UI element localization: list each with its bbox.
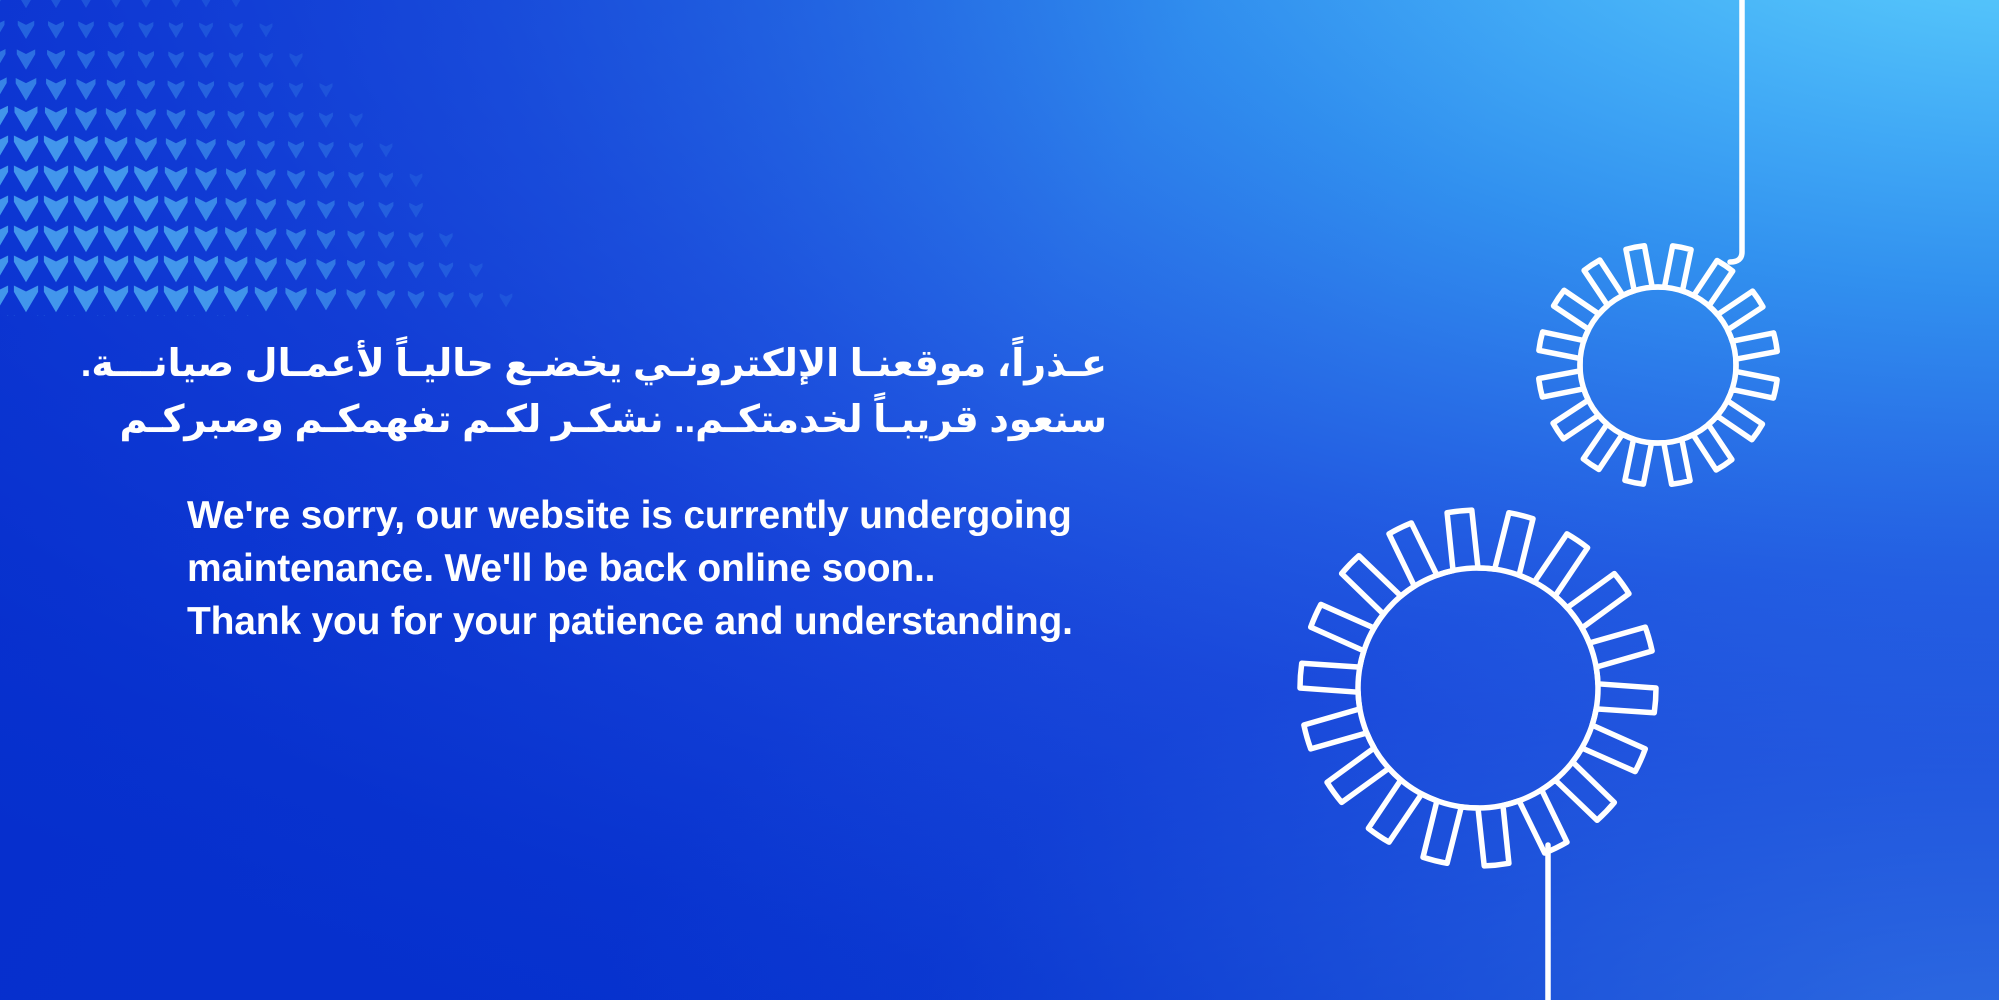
arabic-message: عـذراً، موقعنـا الإلكترونـي يخضـع حاليـا… <box>187 336 1107 448</box>
english-message-line-1: We're sorry, our website is currently un… <box>187 489 1247 542</box>
message-block: عـذراً، موقعنـا الإلكترونـي يخضـع حاليـا… <box>187 336 1247 648</box>
english-message: We're sorry, our website is currently un… <box>187 489 1247 648</box>
arabic-message-line-1: عـذراً، موقعنـا الإلكترونـي يخضـع حاليـا… <box>187 336 1107 392</box>
english-message-line-2: maintenance. We'll be back online soon.. <box>187 542 1247 595</box>
arabic-message-line-2: سنعود قريبـاً لخدمتكـم.. نشكـر لكـم تفهم… <box>187 392 1107 448</box>
maintenance-page: عـذراً، موقعنـا الإلكترونـي يخضـع حاليـا… <box>0 0 1999 1000</box>
english-message-line-3: Thank you for your patience and understa… <box>187 595 1247 648</box>
